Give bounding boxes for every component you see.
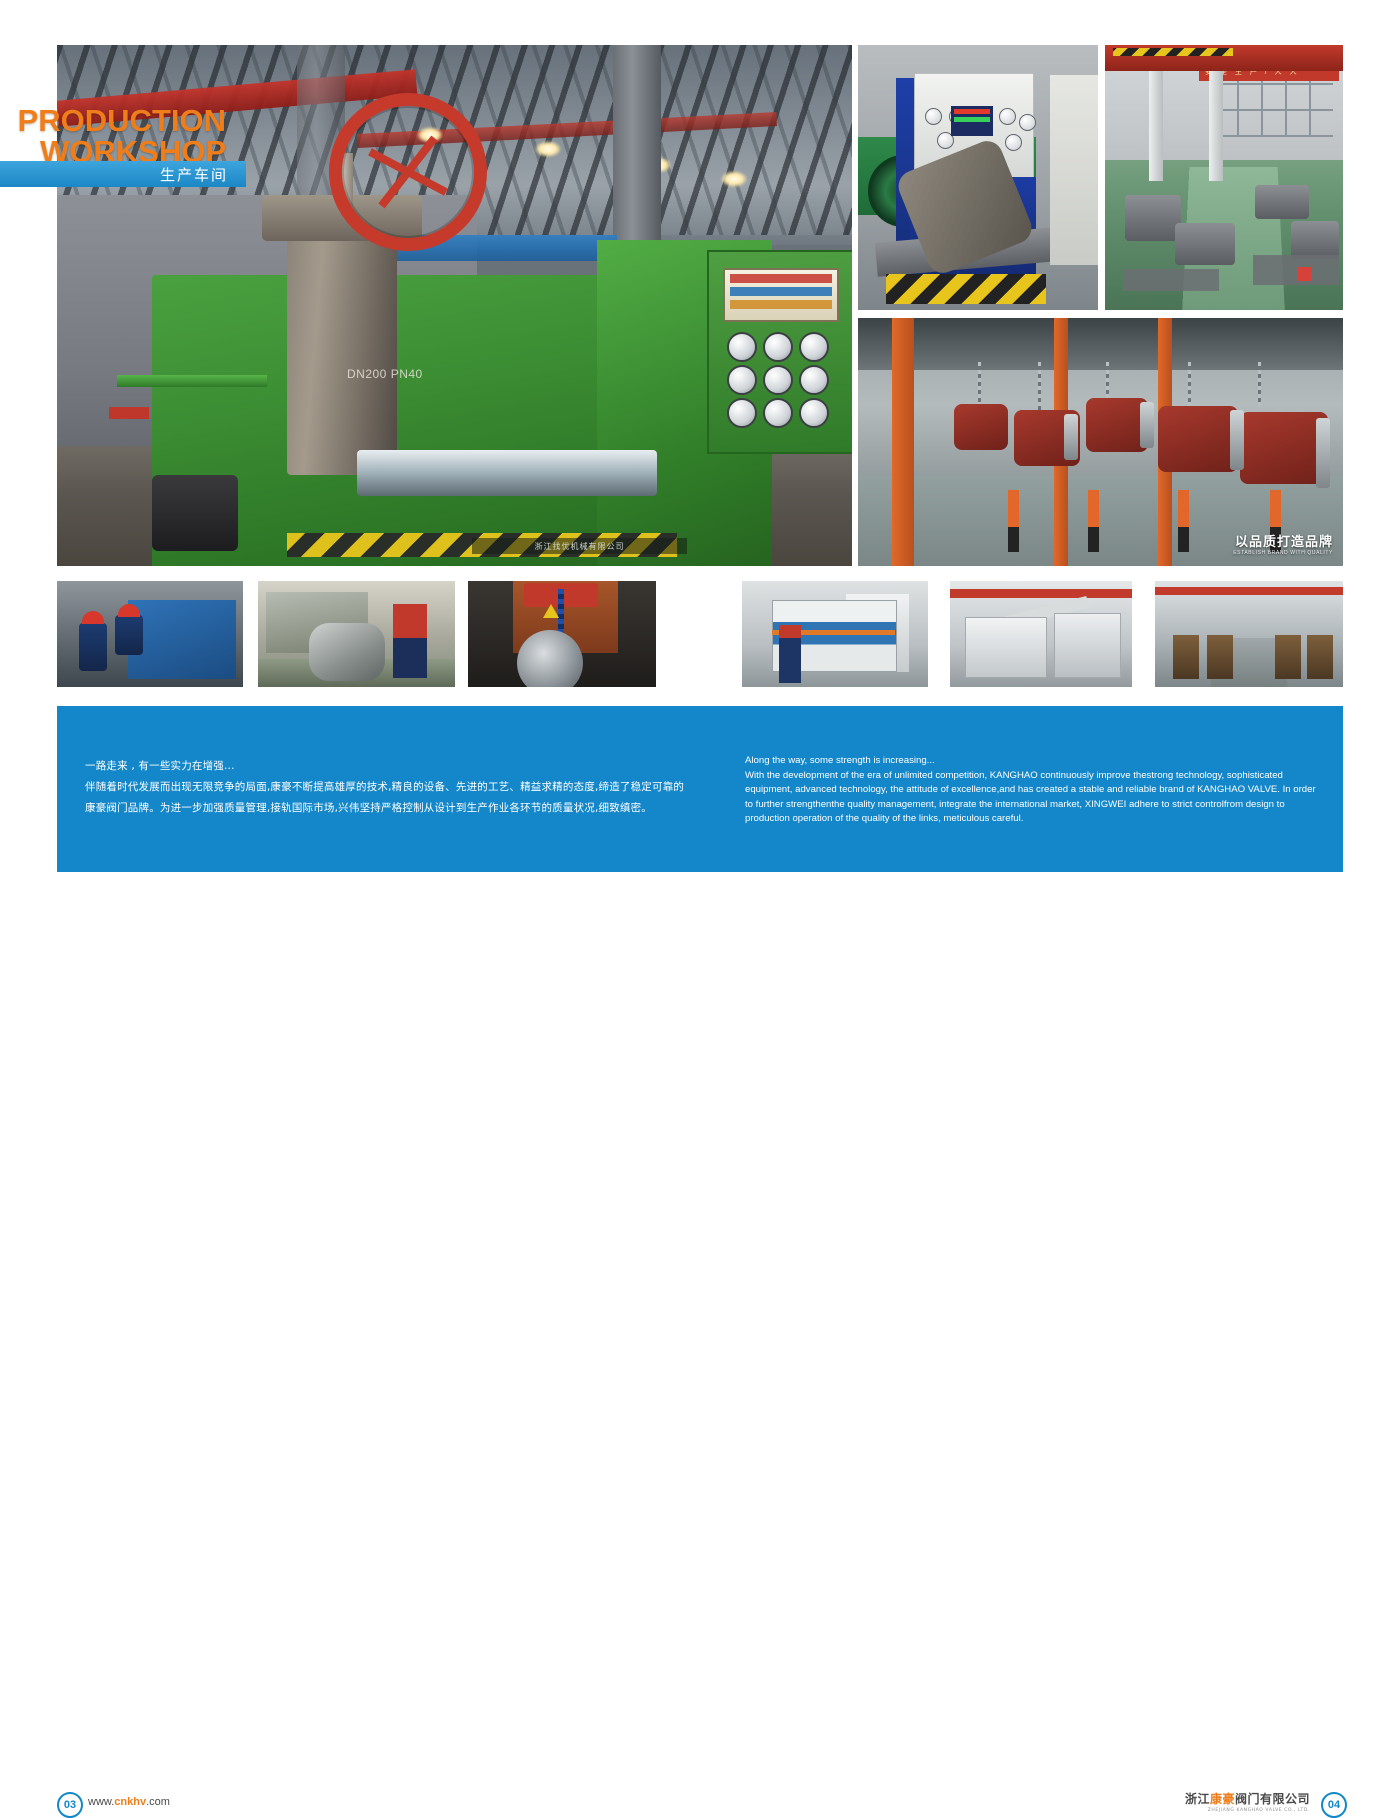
chinese-paragraph: 伴随着时代发展而出现无限竞争的局面,康豪不断提高雄厚的技术,精良的设备、先进的工… (85, 777, 685, 819)
caption-english: ESTABLISH BRAND WITH QUALITY (1233, 550, 1333, 556)
casting-pile (1175, 223, 1235, 265)
control-panel (707, 250, 852, 454)
hazard-stripe (886, 274, 1046, 304)
lathe-machine (1207, 635, 1233, 679)
lathe-production-line-photo (1155, 581, 1343, 687)
lathe-machine (1173, 635, 1199, 679)
valve-pressure-test-machine-photo (858, 45, 1098, 310)
valve-marking-text: DN200 PN40 (347, 367, 423, 381)
caption-chinese: 以品质打造品牌 (1233, 531, 1333, 550)
operator (1050, 75, 1098, 265)
page-title-chinese: 生产车间 (0, 161, 238, 187)
overhead-crane-beam (1155, 587, 1343, 595)
red-stool (1297, 267, 1311, 281)
worker-body (79, 623, 107, 671)
worker-assembly-line-photo (57, 581, 243, 687)
photo-caption: 以品质打造品牌 ESTABLISH BRAND WITH QUALITY (1233, 531, 1333, 556)
description-panel: 一路走来 , 有一些实力在增强... 伴随着时代发展而出现无限竞争的局面,康豪不… (57, 706, 1343, 872)
floor-post (1178, 490, 1189, 552)
hanging-chain (1258, 362, 1261, 406)
page-footer: 03 www.cnkhv.com 浙江康豪阀门有限公司 ZHEJIANG KAN… (0, 897, 1400, 957)
valve-body-workpiece (309, 623, 385, 681)
overhead-crane-beam (950, 589, 1132, 598)
conveyor-ceiling (858, 318, 1343, 370)
page-title-line1: PRODUCTION (0, 105, 226, 136)
green-pipe (117, 375, 267, 387)
floor-post (1008, 490, 1019, 552)
valve-flange (1140, 402, 1154, 448)
chinese-lead-line: 一路走来 , 有一些实力在增强... (85, 756, 685, 777)
floor-post (1088, 490, 1099, 552)
website-url: www.cnkhv.com (88, 1796, 170, 1808)
brochure-page: DN200 PN40 浙江找优机械有限公司 安 全 生 产 / 人 人 (0, 0, 1400, 957)
english-description: Along the way, some strength is increasi… (745, 754, 1325, 827)
cnc-machining-center-photo (742, 581, 928, 687)
lathe-machine (1307, 635, 1333, 679)
valve-flange (1064, 414, 1078, 460)
steel-plate (1123, 269, 1219, 291)
english-paragraph: With the development of the era of unlim… (745, 770, 1316, 825)
warning-triangle-icon (543, 604, 559, 618)
machine-unit (965, 617, 1047, 678)
english-lead-line: Along the way, some strength is increasi… (745, 754, 1325, 769)
website-prefix: www. (88, 1796, 114, 1808)
digital-readout (951, 106, 993, 136)
ceiling-lamp (535, 141, 561, 157)
worker-operator (779, 625, 801, 683)
ceiling-lamp (721, 171, 747, 187)
hanging-chain (1106, 362, 1109, 402)
hanging-chain (1188, 362, 1191, 410)
valve-body-machining-photo (258, 581, 455, 687)
hanging-chain (978, 362, 981, 408)
casting-pile (1255, 185, 1309, 219)
cnc-workshop-row-photo (950, 581, 1132, 687)
workshop-window (1213, 77, 1333, 137)
panel-display (723, 268, 839, 322)
machine-nameplate: 浙江找优机械有限公司 (472, 538, 687, 554)
chinese-description: 一路走来 , 有一些实力在增强... 伴随着时代发展而出现无限竞争的局面,康豪不… (85, 756, 685, 819)
blue-machine (128, 600, 236, 678)
support-column (1149, 71, 1163, 181)
company-logo: 浙江康豪阀门有限公司 ZHEJIANG KANGHAO VALVE CO., L… (1185, 1790, 1310, 1813)
worker-body (115, 615, 143, 655)
support-column (1209, 71, 1223, 181)
page-number-right: 04 (1321, 1792, 1347, 1818)
panel-gauges (727, 332, 852, 424)
website-highlight: cnkhv (114, 1796, 146, 1808)
website-suffix: .com (146, 1796, 170, 1808)
company-name-part1: 浙江 (1185, 1792, 1210, 1806)
steel-plate (1253, 255, 1339, 285)
red-valve-hanging (1158, 406, 1238, 472)
machine-unit (1054, 613, 1122, 679)
valve-flange (1230, 410, 1244, 470)
valve-disc-workpiece (517, 630, 583, 687)
red-valve-hanging (954, 404, 1008, 450)
hanging-chain (1038, 362, 1041, 414)
company-name-english: ZHEJIANG KANGHAO VALVE CO., LTD. (1185, 1808, 1310, 1813)
red-valve-hanging (1086, 398, 1148, 452)
worker-in-red-jacket (393, 604, 427, 678)
small-red-valve (109, 407, 149, 419)
company-name-chinese: 浙江康豪阀门有限公司 (1185, 1790, 1310, 1807)
valve-flange (1316, 418, 1330, 488)
red-handwheel (329, 93, 487, 251)
company-name-part2: 阀门有限公司 (1235, 1792, 1310, 1806)
black-cylinder (152, 475, 238, 551)
workshop-aisle-castings-photo: 安 全 生 产 / 人 人 (1105, 45, 1343, 310)
red-valve-hanging (1240, 412, 1328, 484)
casting-pile (1125, 195, 1181, 241)
casting-pile (1291, 221, 1339, 259)
orange-column (892, 318, 914, 566)
company-brand: 康豪 (1210, 1792, 1235, 1806)
lathe-machine (1275, 635, 1301, 679)
painted-valves-hanging-line-photo: 以品质打造品牌 ESTABLISH BRAND WITH QUALITY (858, 318, 1343, 566)
machine-shaft (357, 450, 657, 496)
page-number-left: 03 (57, 1792, 83, 1818)
valve-hoist-test-photo (468, 581, 656, 687)
gantry-crane (1105, 45, 1343, 71)
